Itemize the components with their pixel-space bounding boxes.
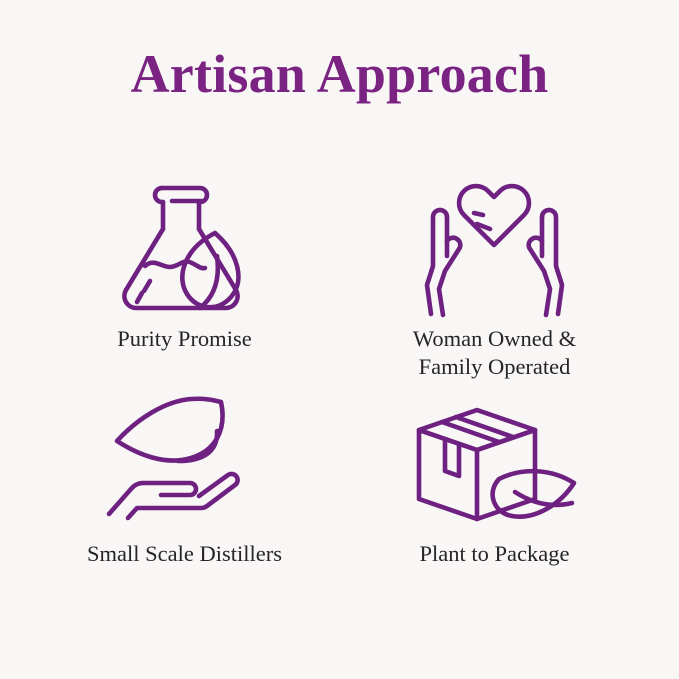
hands-heart-icon	[410, 173, 580, 323]
flask-leaf-icon	[100, 173, 270, 323]
features-grid: Purity Promise	[35, 173, 645, 569]
feature-woman-owned-family-operated: Woman Owned & Family Operated	[345, 173, 645, 382]
box-leaf-icon	[410, 392, 580, 528]
artisan-approach-panel: Artisan Approach	[0, 0, 679, 679]
feature-label: Plant to Package	[420, 540, 570, 569]
feature-label: Purity Promise	[117, 325, 251, 354]
feature-purity-promise: Purity Promise	[35, 173, 335, 382]
feature-label: Woman Owned & Family Operated	[413, 325, 576, 382]
feature-small-scale-distillers: Small Scale Distillers	[35, 392, 335, 569]
feature-label: Small Scale Distillers	[87, 540, 282, 569]
hand-leaf-icon	[100, 392, 270, 528]
feature-plant-to-package: Plant to Package	[345, 392, 645, 569]
page-title: Artisan Approach	[131, 46, 549, 103]
